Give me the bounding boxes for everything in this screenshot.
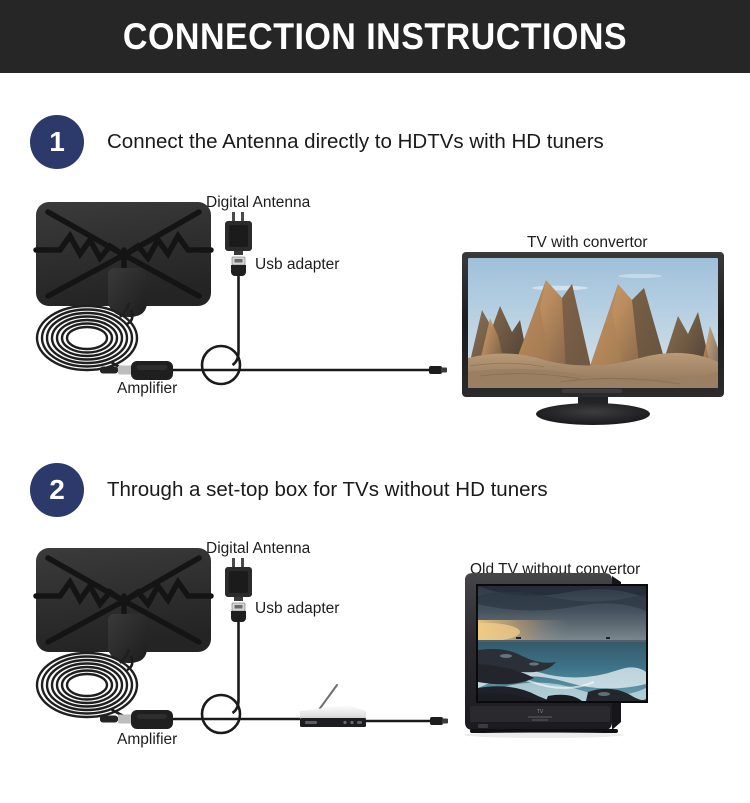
amplifier-icon-2	[100, 710, 300, 729]
step-1-row: 1 Connect the Antenna directly to HDTVs …	[30, 115, 604, 169]
coiled-cable-icon-2	[37, 649, 137, 720]
step-2-diagram: Digital Antenna Usb adapter Amplifier Ol…	[0, 528, 750, 803]
step-1-label: Connect the Antenna directly to HDTVs wi…	[107, 130, 604, 154]
set-top-box-icon	[300, 685, 432, 727]
flat-screen-tv-icon	[429, 252, 724, 425]
coiled-cable-icon	[37, 303, 137, 373]
digital-antenna-icon-2	[36, 548, 211, 670]
amplifier-icon	[100, 361, 430, 380]
step-1-diagram: Digital Antenna Usb adapter Amplifier TV…	[0, 180, 750, 455]
step-2-label: Through a set-top box for TVs without HD…	[107, 478, 548, 502]
page-title: CONNECTION INSTRUCTIONS	[123, 16, 627, 58]
step-2-illustration: TV	[0, 528, 750, 803]
usb-plug-icon	[231, 257, 246, 276]
tv-screen-image	[468, 258, 718, 388]
usb-adapter-icon-2	[225, 558, 252, 601]
usb-plug-icon-2	[231, 603, 246, 622]
page-header: CONNECTION INSTRUCTIONS	[0, 0, 750, 73]
tv-screen-image-2	[452, 586, 646, 712]
step-2-badge: 2	[30, 463, 84, 517]
digital-antenna-icon	[36, 202, 211, 324]
step-2-row: 2 Through a set-top box for TVs without …	[30, 463, 548, 517]
usb-adapter-icon	[225, 212, 252, 255]
step-1-badge: 1	[30, 115, 84, 169]
step-1-illustration	[0, 180, 750, 455]
old-crt-tv-icon: TV	[430, 573, 648, 738]
tv-brand-logo: TV	[537, 709, 544, 715]
